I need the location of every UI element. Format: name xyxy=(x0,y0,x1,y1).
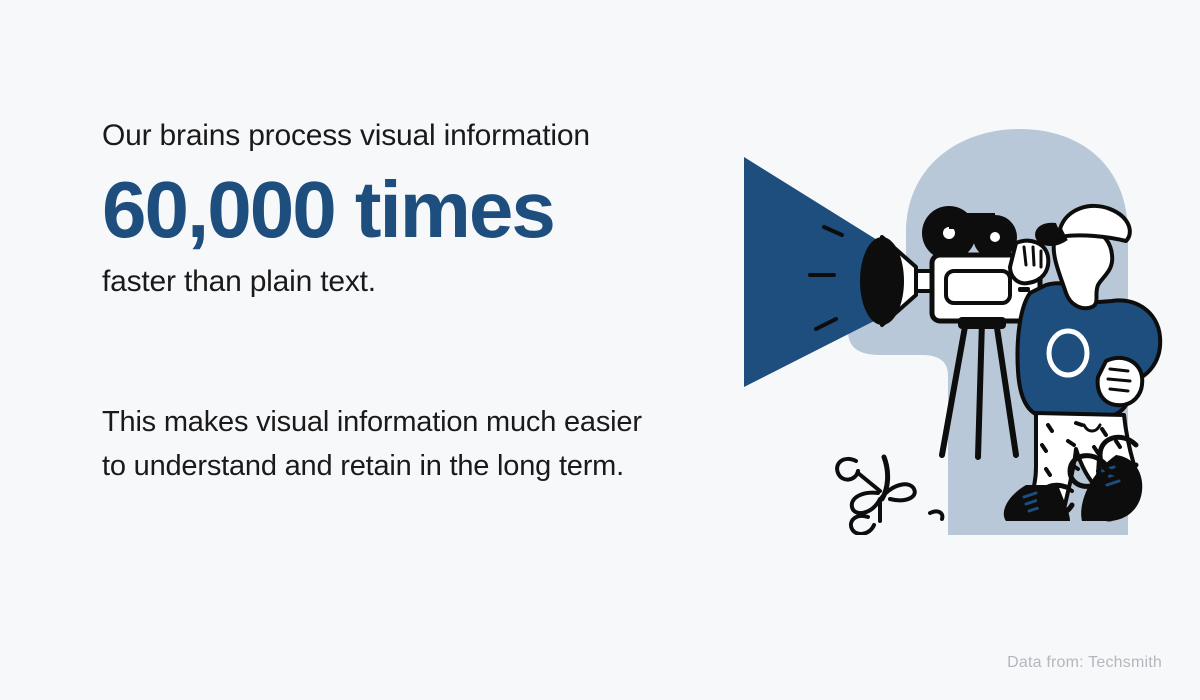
operator-hand-on-camera xyxy=(1010,241,1048,284)
body-paragraph: This makes visual information much easie… xyxy=(102,400,662,488)
data-source-attribution: Data from: Techsmith xyxy=(1007,654,1162,672)
headline-statistic: 60,000 times xyxy=(102,167,722,253)
headline-lead-line: Our brains process visual information xyxy=(102,118,722,153)
illustration xyxy=(730,125,1200,535)
megaphone-cone-mouth xyxy=(860,237,904,325)
headline-trailing-line: faster than plain text. xyxy=(102,264,722,299)
plant-doodle-left xyxy=(837,457,942,534)
infographic-canvas: Our brains process visual information 60… xyxy=(0,0,1200,700)
headline-block: Our brains process visual information 60… xyxy=(102,118,722,299)
